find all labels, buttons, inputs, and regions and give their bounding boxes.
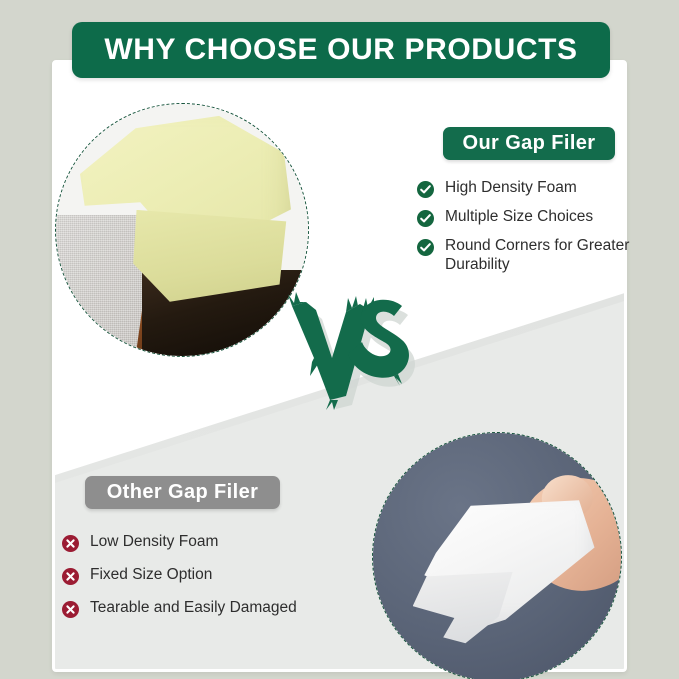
list-item: Round Corners for Greater Durability bbox=[417, 236, 632, 274]
list-item-label: Fixed Size Option bbox=[90, 565, 212, 584]
other-feature-list: Low Density Foam Fixed Size Option Teara… bbox=[62, 532, 362, 631]
cross-circle-icon bbox=[62, 535, 79, 552]
cross-circle-icon bbox=[62, 601, 79, 618]
page-title: WHY CHOOSE OUR PRODUCTS bbox=[104, 33, 577, 67]
cross-circle-icon bbox=[62, 568, 79, 585]
list-item: Tearable and Easily Damaged bbox=[62, 598, 362, 618]
check-circle-icon bbox=[417, 181, 434, 198]
list-item-label: Tearable and Easily Damaged bbox=[90, 598, 297, 617]
versus-mark bbox=[288, 292, 418, 410]
list-item: Multiple Size Choices bbox=[417, 207, 632, 227]
list-item-label: Multiple Size Choices bbox=[445, 207, 593, 226]
other-product-photo bbox=[372, 432, 622, 679]
other-product-badge: Other Gap Filer bbox=[85, 476, 280, 509]
other-product-photo-inner bbox=[373, 433, 621, 679]
comparison-poster: WHY CHOOSE OUR PRODUCTS bbox=[0, 0, 679, 679]
list-item-label: Round Corners for Greater Durability bbox=[445, 236, 632, 274]
other-product-badge-label: Other Gap Filer bbox=[107, 481, 259, 504]
check-circle-icon bbox=[417, 210, 434, 227]
our-product-photo bbox=[55, 103, 309, 357]
check-circle-icon bbox=[417, 239, 434, 256]
list-item-label: High Density Foam bbox=[445, 178, 577, 197]
our-product-badge-label: Our Gap Filer bbox=[462, 132, 595, 155]
list-item: Low Density Foam bbox=[62, 532, 362, 552]
page-title-banner: WHY CHOOSE OUR PRODUCTS bbox=[72, 22, 610, 78]
our-feature-list: High Density Foam Multiple Size Choices … bbox=[417, 178, 632, 283]
our-product-badge: Our Gap Filer bbox=[443, 127, 615, 160]
list-item-label: Low Density Foam bbox=[90, 532, 218, 551]
list-item: High Density Foam bbox=[417, 178, 632, 198]
our-product-photo-inner bbox=[56, 104, 308, 356]
list-item: Fixed Size Option bbox=[62, 565, 362, 585]
